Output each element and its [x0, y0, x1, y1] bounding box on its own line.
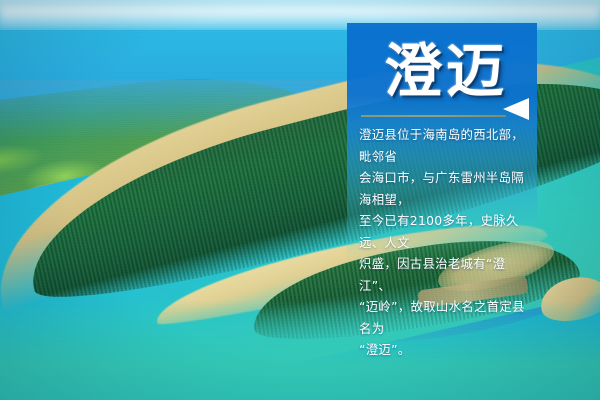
description-line: “迈岭”，故取山水名之首定县名为 [359, 296, 531, 339]
description-line: 炽盛，因古县治老城有“澄江”、 [359, 253, 531, 296]
description-line: “澄迈”。 [359, 339, 531, 361]
description-text: 澄迈县位于海南岛的西北部，毗邻省 会海口市，与广东雷州半岛隔海相望， 至今已有2… [359, 124, 531, 361]
title-divider [361, 115, 506, 117]
triangle-left-icon [503, 98, 529, 120]
description-line: 澄迈县位于海南岛的西北部，毗邻省 [359, 124, 531, 167]
screenshot-canvas: 澄迈 澄迈县位于海南岛的西北部，毗邻省 会海口市，与广东雷州半岛隔海相望， 至今… [0, 0, 600, 400]
description-line: 会海口市，与广东雷州半岛隔海相望， [359, 167, 531, 210]
info-panel: 澄迈 澄迈县位于海南岛的西北部，毗邻省 会海口市，与广东雷州半岛隔海相望， 至今… [347, 23, 537, 263]
description-line: 至今已有2100多年，史脉久远、人文 [359, 210, 531, 253]
